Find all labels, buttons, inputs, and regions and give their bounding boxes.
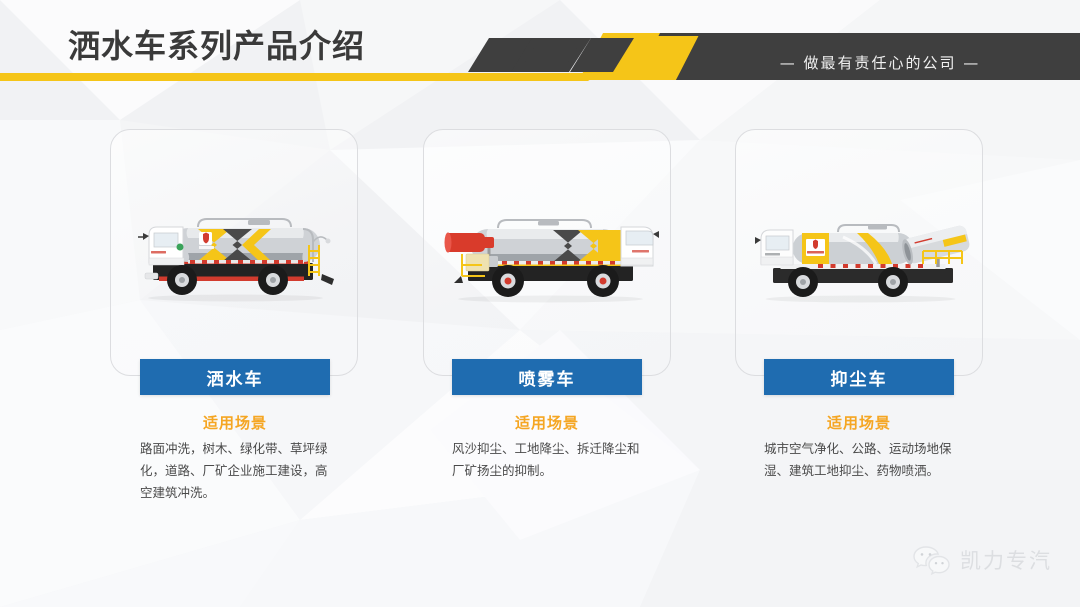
- watermark: 凯力专汽: [913, 545, 1052, 575]
- product-card-2[interactable]: [423, 129, 671, 376]
- product-label-3[interactable]: 抑尘车: [764, 359, 954, 395]
- truck-image-3: [736, 130, 984, 377]
- truck-image-1: [111, 130, 359, 377]
- scene-title-1: 适用场景: [135, 412, 335, 433]
- product-label-1[interactable]: 洒水车: [140, 359, 330, 395]
- product-description-2: 风沙抑尘、工地降尘、拆迁降尘和厂矿扬尘的抑制。: [452, 438, 642, 482]
- page-title: 洒水车系列产品介绍: [68, 29, 365, 64]
- wechat-icon: [913, 545, 951, 575]
- product-card-3[interactable]: [735, 129, 983, 376]
- product-card-1[interactable]: [110, 129, 358, 376]
- product-description-3: 城市空气净化、公路、运动场地保湿、建筑工地抑尘、药物喷洒。: [764, 438, 954, 482]
- scene-title-3: 适用场景: [759, 412, 959, 433]
- product-label-2[interactable]: 喷雾车: [452, 359, 642, 395]
- spray-truck-icon: [433, 198, 663, 310]
- sprinkler-truck-icon: [123, 199, 348, 309]
- product-description-1: 路面冲洗，树木、绿化带、草坪绿化，道路、厂矿企业施工建设，高空建筑冲洗。: [140, 438, 330, 504]
- watermark-text: 凯力专汽: [960, 545, 1052, 575]
- scene-title-2: 适用场景: [447, 412, 647, 433]
- truck-image-2: [424, 130, 672, 377]
- page-header: 洒水车系列产品介绍 — 做最有责任心的公司 —: [0, 0, 1080, 95]
- dust-suppression-truck-icon: [743, 198, 978, 310]
- header-tagline: — 做最有责任心的公司 —: [700, 52, 1060, 73]
